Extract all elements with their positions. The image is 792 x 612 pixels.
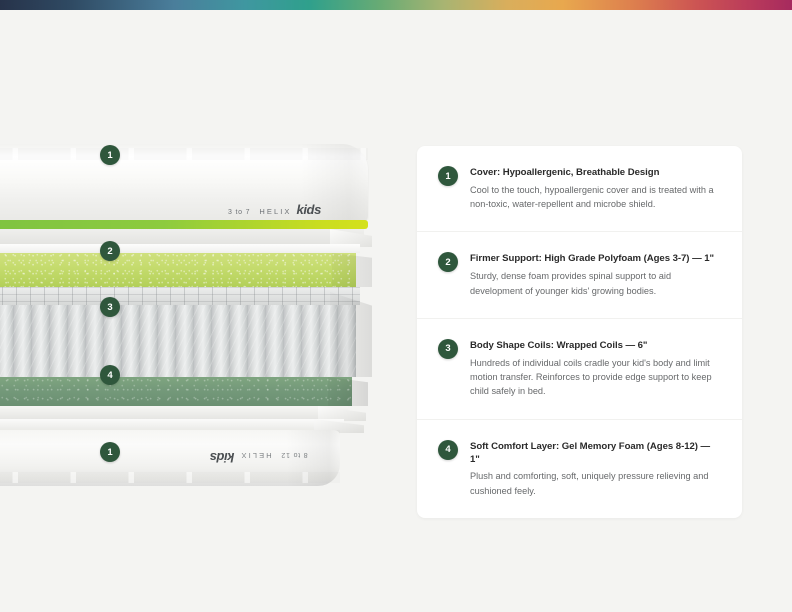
brand-product-bottom: kids <box>210 450 234 465</box>
list-item[interactable]: 4 Soft Comfort Layer: Gel Memory Foam (A… <box>417 420 742 518</box>
layer-title: Cover: Hypoallergenic, Breathable Design <box>470 167 720 180</box>
mattress-badge-4[interactable]: 4 <box>100 365 120 385</box>
layer-title: Soft Comfort Layer: Gel Memory Foam (Age… <box>470 441 720 467</box>
layer-title: Body Shape Coils: Wrapped Coils — 6" <box>470 340 720 353</box>
mattress-memory-foam-edge-shading <box>328 377 368 406</box>
mattress-layer-white-upper <box>0 229 364 244</box>
layer-description: Sturdy, dense foam provides spinal suppo… <box>470 269 720 298</box>
layer-badge-1: 1 <box>438 166 458 186</box>
layer-title: Firmer Support: High Grade Polyfoam (Age… <box>470 253 720 266</box>
layer-badge-4: 4 <box>438 440 458 460</box>
layer-text-block: Cover: Hypoallergenic, Breathable Design… <box>470 166 720 211</box>
mattress-layer-white-lower-2 <box>0 419 344 430</box>
layer-description: Hundreds of individual coils cradle your… <box>470 356 720 399</box>
mattress-coils-edge-shading <box>330 292 372 377</box>
brand-name-top: HELIX <box>259 207 291 216</box>
mattress-layers-card: 1 Cover: Hypoallergenic, Breathable Desi… <box>417 146 742 518</box>
mattress-layer-coils-top-face <box>0 287 360 305</box>
layer-text-block: Firmer Support: High Grade Polyfoam (Age… <box>470 252 720 297</box>
layer-badge-2: 2 <box>438 252 458 272</box>
mattress-brand-label-top: 3 to 7 HELIX kids <box>228 202 321 217</box>
mattress-badge-1-top[interactable]: 1 <box>100 145 120 165</box>
layer-text-block: Body Shape Coils: Wrapped Coils — 6" Hun… <box>470 339 720 399</box>
mattress-layer-white-lower <box>0 406 348 419</box>
brand-age-range-top: 3 to 7 <box>228 209 250 216</box>
mattress-badge-1-bottom[interactable]: 1 <box>100 442 120 462</box>
layer-text-block: Soft Comfort Layer: Gel Memory Foam (Age… <box>470 440 720 498</box>
mattress-layer-polyfoam <box>0 253 356 287</box>
mattress-layer-gel-memory-foam <box>0 377 352 406</box>
layer-description: Plush and comforting, soft, uniquely pre… <box>470 469 720 498</box>
brand-product-top: kids <box>297 202 321 217</box>
mattress-layer-wrapped-coils <box>0 305 356 377</box>
top-gradient-bar <box>0 0 792 10</box>
mattress-polyfoam-edge-shading <box>332 253 372 287</box>
layer-description: Cool to the touch, hypoallergenic cover … <box>470 183 720 212</box>
brand-name-bottom: HELIX <box>239 451 271 460</box>
list-item[interactable]: 2 Firmer Support: High Grade Polyfoam (A… <box>417 232 742 318</box>
list-item[interactable]: 3 Body Shape Coils: Wrapped Coils — 6" H… <box>417 319 742 420</box>
mattress-brand-label-bottom: 8 to 12 HELIX kids <box>210 450 308 465</box>
mattress-cutaway-illustration: 3 to 7 HELIX kids 8 to 12 HELIX kids <box>0 132 372 472</box>
mattress-layer-green-stripe <box>0 220 368 229</box>
brand-age-range-bottom: 8 to 12 <box>281 451 308 458</box>
mattress-badge-2[interactable]: 2 <box>100 241 120 261</box>
mattress-layer-white-upper-2 <box>0 244 360 253</box>
list-item[interactable]: 1 Cover: Hypoallergenic, Breathable Desi… <box>417 146 742 232</box>
layer-badge-3: 3 <box>438 339 458 359</box>
mattress-badge-3[interactable]: 3 <box>100 297 120 317</box>
